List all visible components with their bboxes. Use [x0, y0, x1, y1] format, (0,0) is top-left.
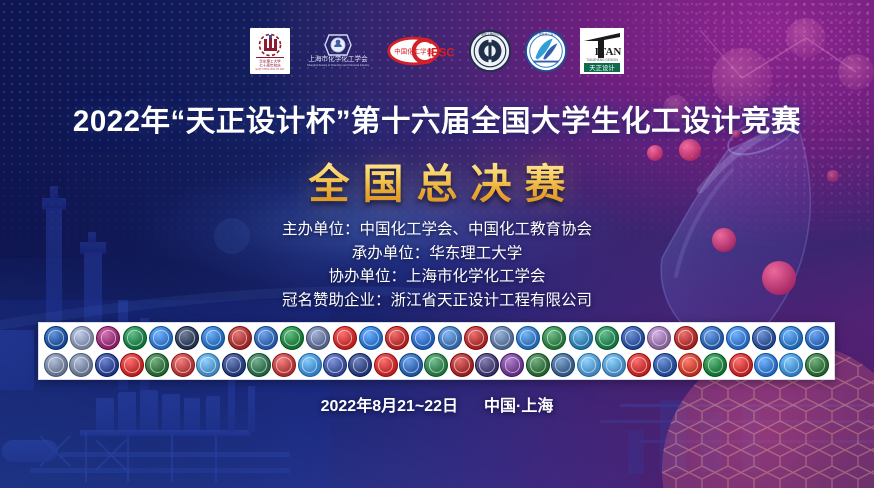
- university-logo: [627, 353, 651, 377]
- university-logo: [69, 353, 93, 377]
- university-logo: [411, 326, 435, 350]
- competition-emblem-logo: 全国大学生化工设计竞赛: [524, 29, 568, 73]
- university-logo: [222, 353, 246, 377]
- subtitle-national-final: 全国总决赛: [0, 150, 874, 210]
- participating-university-logo-strip: [38, 322, 835, 380]
- university-logo: [44, 326, 68, 350]
- university-logo: [96, 326, 120, 350]
- university-logo: [526, 353, 550, 377]
- titan-tianzheng-design-logo: ITAN TIANZHENG DESIGN 天正设计: [580, 28, 624, 74]
- university-logo: [280, 326, 304, 350]
- university-logo: [464, 326, 488, 350]
- university-logo: [171, 353, 195, 377]
- university-logo: [333, 326, 357, 350]
- university-logo-row-2: [43, 353, 830, 378]
- organizer-line-title-sponsor: 冠名赞助企业：浙江省天正设计工程有限公司: [0, 289, 874, 313]
- china-chemical-education-association-logo: 中国化工教育协会: [468, 29, 512, 73]
- university-logo: [175, 326, 199, 350]
- university-logo: [779, 353, 803, 377]
- svg-text:Shanghai Society of Chemistry: Shanghai Society of Chemistry and Chemic…: [307, 63, 370, 67]
- university-logo: [542, 326, 566, 350]
- svg-text:天正设计: 天正设计: [589, 63, 615, 72]
- svg-text:EAST CHINA UNIV OF S&T: EAST CHINA UNIV OF S&T: [256, 68, 285, 71]
- svg-text:上海市化学化工学会: 上海市化学化工学会: [308, 54, 368, 63]
- university-logo: [754, 353, 778, 377]
- organizer-line-undertaker: 承办单位：华东理工大学: [0, 242, 874, 266]
- university-logo: [674, 326, 698, 350]
- university-logo: [254, 326, 278, 350]
- university-logo: [247, 353, 271, 377]
- university-logo: [228, 326, 252, 350]
- university-logo: [424, 353, 448, 377]
- university-logo: [703, 353, 727, 377]
- university-logo: [475, 353, 499, 377]
- ecust-70th-anniversary-logo: 华东理工大学 七十周年校庆 EAST CHINA UNIV OF S&T: [250, 28, 290, 74]
- event-footer: 2022年8月21~22日中国·上海: [0, 392, 874, 416]
- university-logo: [726, 326, 750, 350]
- university-logo: [729, 353, 753, 377]
- svg-text:全国大学生化工设计竞赛: 全国大学生化工设计竞赛: [530, 31, 563, 36]
- university-logo: [516, 326, 540, 350]
- svg-text:TIANZHENG DESIGN: TIANZHENG DESIGN: [586, 58, 618, 62]
- university-logo: [647, 326, 671, 350]
- university-logo: [805, 353, 829, 377]
- ciesc-logo: 中国化工学会 IESC: [386, 34, 456, 68]
- university-logo-row-1: [43, 326, 830, 351]
- university-logo: [374, 353, 398, 377]
- university-logo: [70, 326, 94, 350]
- university-logo: [272, 353, 296, 377]
- university-logo: [149, 326, 173, 350]
- university-logo: [569, 326, 593, 350]
- organizer-line-co-organizer: 协办单位：上海市化学化工学会: [0, 265, 874, 289]
- university-logo: [323, 353, 347, 377]
- university-logo: [196, 353, 220, 377]
- university-logo: [551, 353, 575, 377]
- university-logo: [123, 326, 147, 350]
- event-date: 2022年8月21~22日: [321, 398, 458, 415]
- svg-text:ITAN: ITAN: [595, 46, 622, 58]
- university-logo: [653, 353, 677, 377]
- university-logo: [399, 353, 423, 377]
- university-logo: [450, 353, 474, 377]
- university-logo: [577, 353, 601, 377]
- university-logo: [779, 326, 803, 350]
- university-logo: [201, 326, 225, 350]
- university-logo: [602, 353, 626, 377]
- sponsor-logo-row: 华东理工大学 七十周年校庆 EAST CHINA UNIV OF S&T 上海市…: [0, 28, 874, 74]
- event-location: 中国·上海: [484, 398, 553, 415]
- university-logo: [348, 353, 372, 377]
- organizer-list: 主办单位：中国化工学会、中国化工教育协会 承办单位：华东理工大学 协办单位：上海…: [0, 218, 874, 312]
- university-logo: [805, 326, 829, 350]
- svg-text:中国化工教育协会: 中国化工教育协会: [478, 31, 502, 36]
- shanghai-society-chemistry-chemical-industry-logo: 上海市化学化工学会 Shanghai Society of Chemistry …: [302, 33, 374, 69]
- university-logo: [500, 353, 524, 377]
- university-logo: [298, 353, 322, 377]
- university-logo: [438, 326, 462, 350]
- university-logo: [385, 326, 409, 350]
- university-logo: [621, 326, 645, 350]
- university-logo: [120, 353, 144, 377]
- organizer-line-host: 主办单位：中国化工学会、中国化工教育协会: [0, 218, 874, 242]
- university-logo: [490, 326, 514, 350]
- conference-poster: 华东理工大学 七十周年校庆 EAST CHINA UNIV OF S&T 上海市…: [0, 0, 874, 488]
- university-logo: [359, 326, 383, 350]
- university-logo: [595, 326, 619, 350]
- university-logo: [95, 353, 119, 377]
- svg-text:IESC: IESC: [428, 48, 455, 60]
- page-title: 2022年“天正设计杯”第十六届全国大学生化工设计竞赛: [0, 98, 874, 140]
- university-logo: [145, 353, 169, 377]
- university-logo: [306, 326, 330, 350]
- university-logo: [700, 326, 724, 350]
- svg-text:七十周年校庆: 七十周年校庆: [259, 62, 281, 67]
- university-logo: [678, 353, 702, 377]
- university-logo: [44, 353, 68, 377]
- university-logo: [752, 326, 776, 350]
